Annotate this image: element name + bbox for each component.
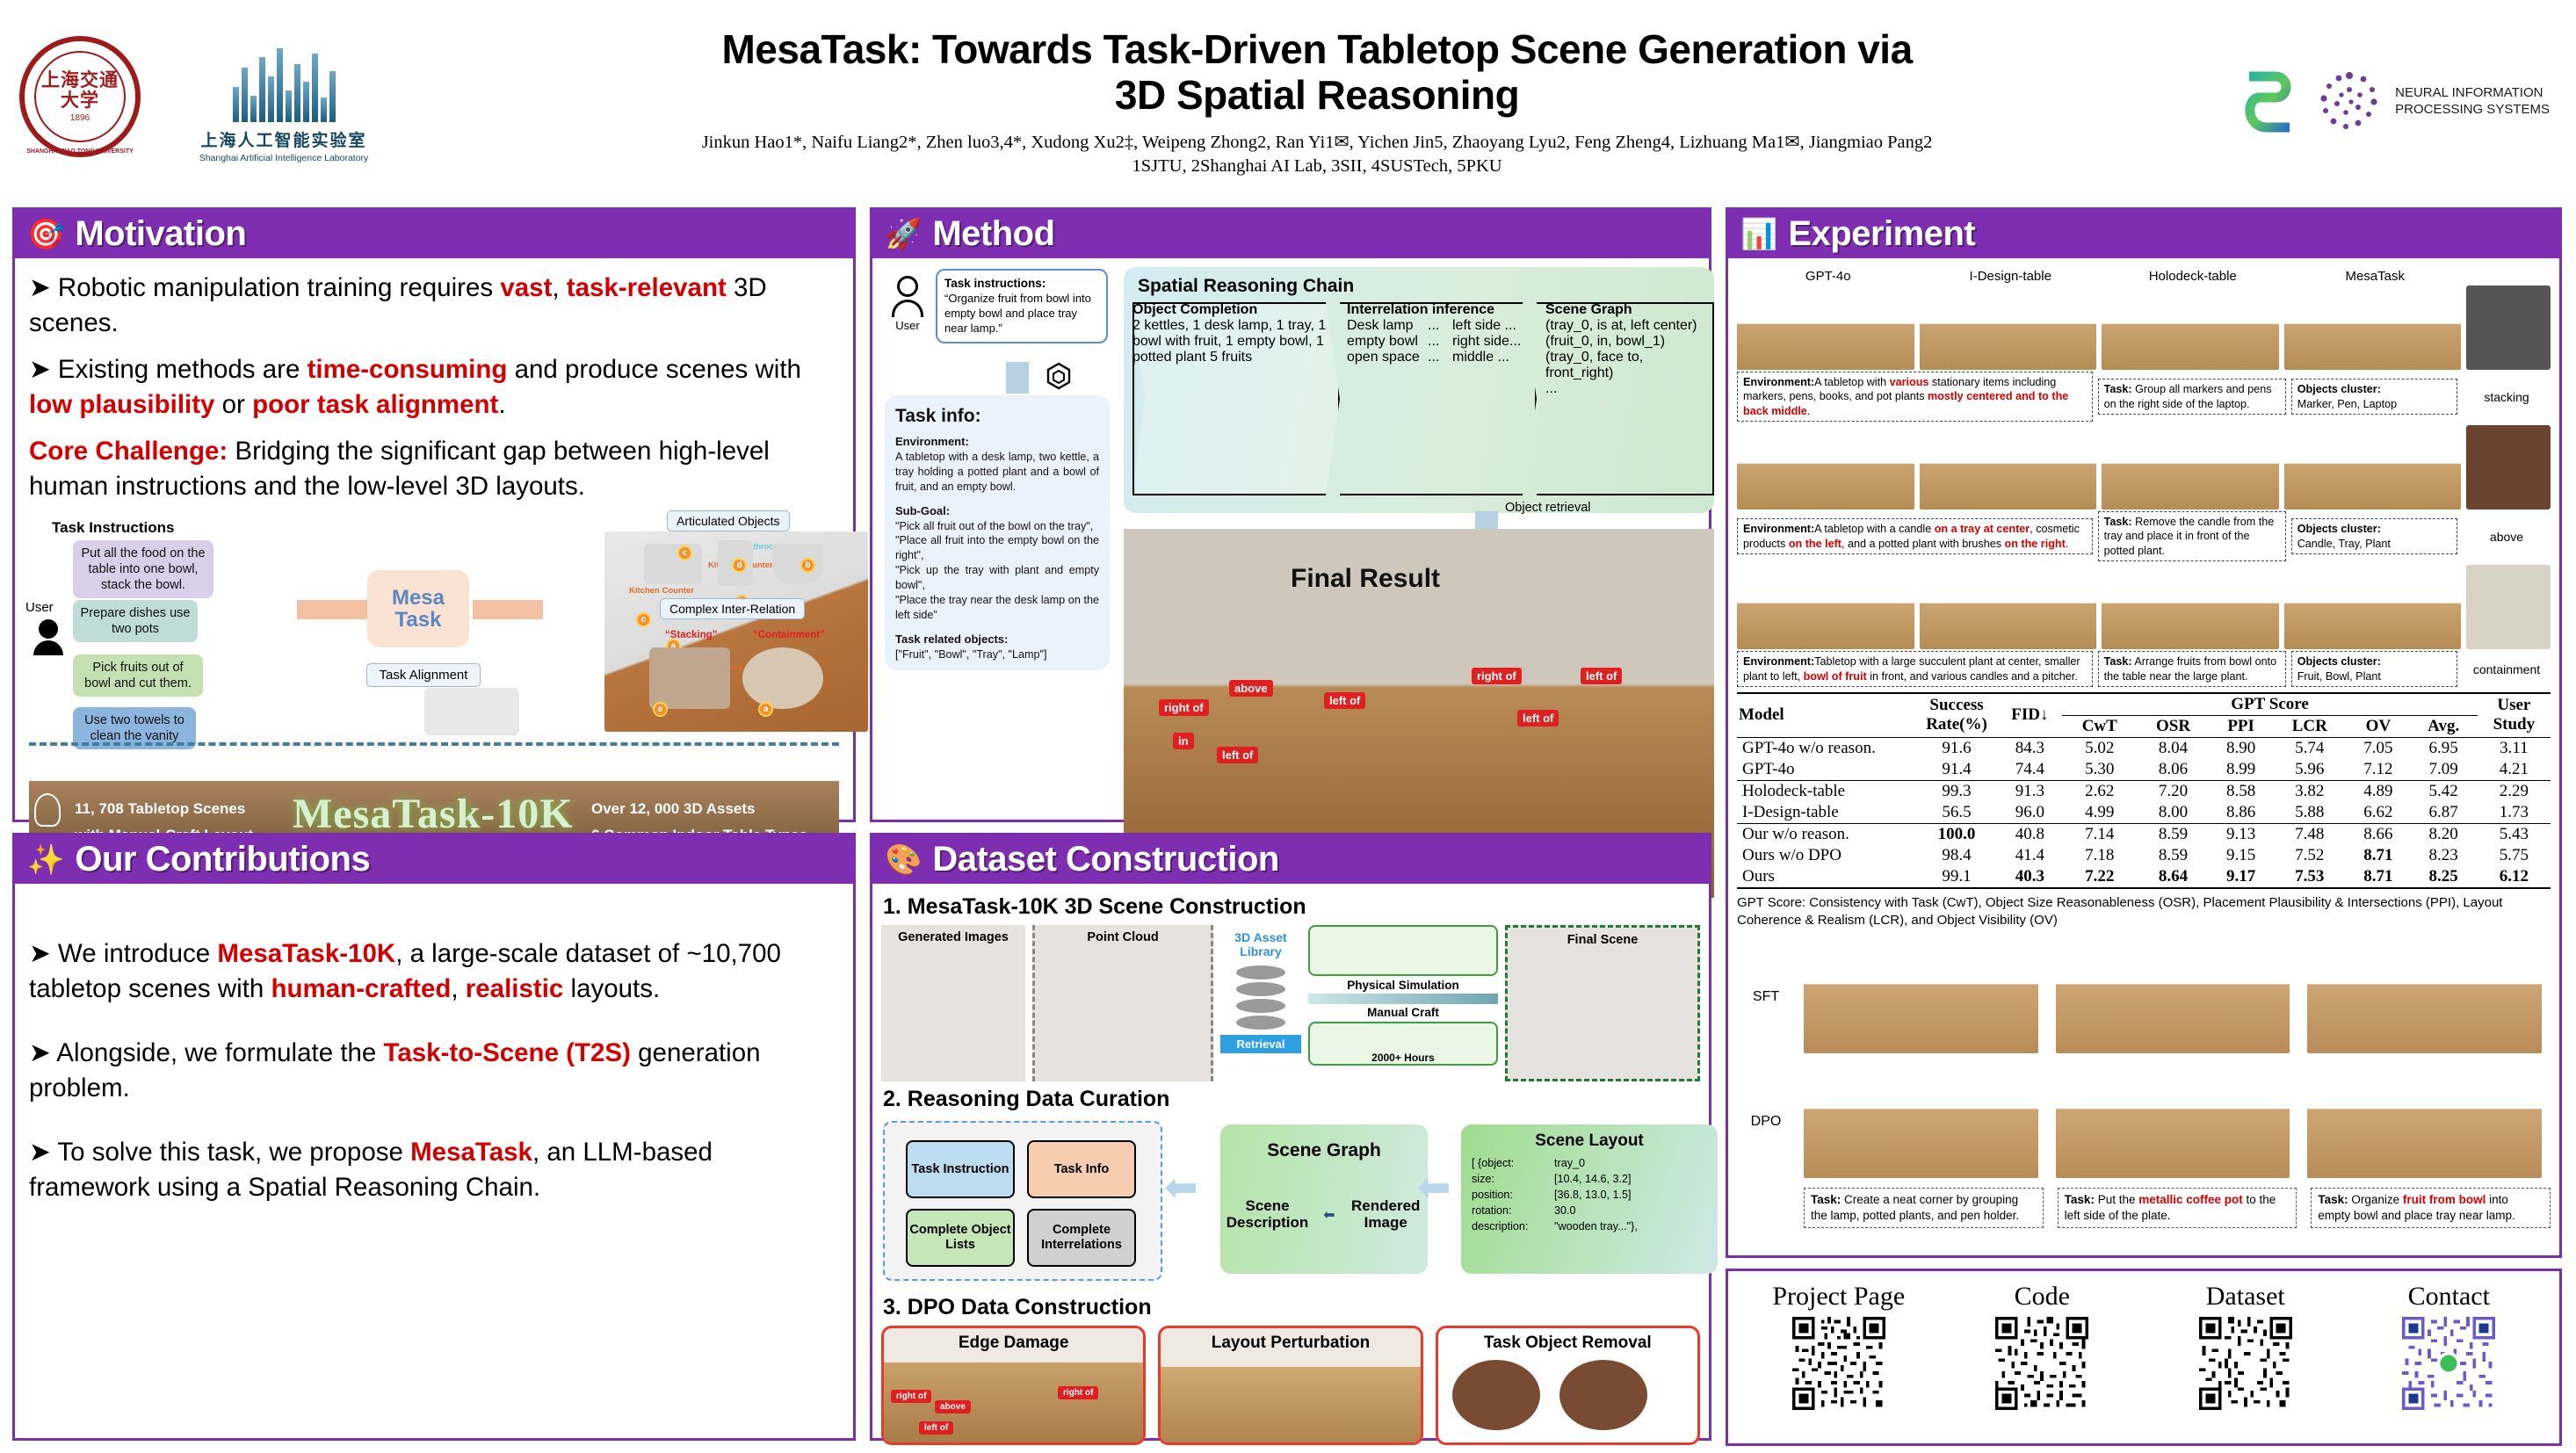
cluster-label-2: Objects cluster: — [2297, 523, 2381, 535]
bottom-task-1: Task: Create a neat corner by grouping t… — [1804, 1188, 2044, 1228]
cell-sr: 100.0 — [1916, 823, 1998, 845]
qr-code-contact-icon[interactable] — [2402, 1317, 2495, 1410]
reasoning-data-curation: Task Instruction Task Info Complete Obje… — [881, 1117, 1700, 1290]
dataset-sub-3: 3. DPO Data Construction — [883, 1295, 1700, 1320]
cell-user: 1.73 — [2478, 802, 2551, 824]
model-name-row: GPT-4o I-Design-table Holodeck-table Mes… — [1737, 269, 2551, 284]
cell-cwt: 5.02 — [2062, 737, 2137, 759]
palette-icon: 🎨 — [885, 845, 922, 875]
point-cloud-card: Point Cloud — [1032, 925, 1213, 1081]
relation-label-2: above — [2463, 530, 2551, 544]
cell-sr: 91.4 — [1916, 759, 1998, 781]
cell-osr: 8.59 — [2137, 823, 2210, 845]
poster-title-line1: MesaTask: Towards Task-Driven Tabletop S… — [402, 27, 2232, 73]
bt3-p1: fruit from bowl — [2403, 1193, 2486, 1206]
arrow-instructions-to-info — [1006, 362, 1029, 394]
env-2-p4: , and a potted plant with brushes — [1842, 538, 2005, 550]
relation-right-of-2: left of — [1581, 668, 1622, 684]
scene-idesign-1 — [1920, 286, 2097, 370]
cluster-label-3: Objects cluster: — [2297, 655, 2381, 668]
scene-graph-node: Scene Graph Scene Description ⬅ Rendered… — [1220, 1124, 1428, 1274]
cell-avg: 6.87 — [2410, 802, 2478, 824]
environment-box-1: Environment:A tabletop with various stat… — [1737, 372, 2093, 422]
cb3-r1: MesaTask — [410, 1138, 532, 1167]
mb2-r3: poor task alignment — [252, 390, 498, 419]
author-list: Jinkun Hao1*, Naifu Liang2*, Zhen luo3,4… — [402, 131, 2232, 153]
table-row: Ours 99.1 40.3 7.22 8.64 9.17 7.53 8.71 … — [1737, 866, 2551, 888]
method-body: User Task instructions: “Organize fruit … — [872, 258, 1709, 817]
sft-scene-1 — [1804, 941, 2038, 1053]
cb2-r1: Task-to-Scene (T2S) — [384, 1038, 631, 1067]
cell-osr: 8.00 — [2137, 802, 2210, 824]
scene-layout-label: Scene Layout — [1472, 1131, 1707, 1151]
env-2-p1: on a tray at center — [1935, 523, 2030, 535]
dataset-body: 1. MesaTask-10K 3D Scene Construction Ge… — [872, 884, 1709, 1450]
poster-title: MesaTask: Towards Task-Driven Tabletop S… — [402, 27, 2232, 118]
openai-logo-icon — [1041, 360, 1076, 400]
panel-motivation: 🎯 Motivation ➤ Robotic manipulation trai… — [12, 207, 856, 822]
relation-above: above — [1229, 680, 1273, 697]
lr2v: [10.4, 14.6, 3.2] — [1554, 1172, 1632, 1188]
sft-dpo-comparison: SFT DPO Task: Create a neat corner by gr… — [1737, 935, 2551, 1228]
scene-idesign-2 — [1920, 425, 2097, 510]
env-2-p3: on the left — [1789, 538, 1842, 550]
sparkles-icon: ✨ — [27, 845, 64, 875]
model-name-holodeck: Holodeck-table — [2102, 269, 2284, 284]
cb1-c: , — [451, 974, 465, 1003]
cell-avg: 8.20 — [2410, 823, 2478, 845]
th-success-l1: Success — [1918, 696, 1996, 715]
th-ppi: PPI — [2210, 715, 2273, 737]
table-row: I-Design-table 56.5 96.0 4.99 8.00 8.86 … — [1737, 802, 2551, 824]
edge-tag-2: above — [935, 1400, 971, 1413]
cell-osr: 8.06 — [2137, 759, 2210, 781]
layout-row-4: rotation:30.0 — [1472, 1204, 1707, 1219]
cluster-box-3: Objects cluster: Fruit, Bowl, Plant — [2291, 651, 2457, 687]
arrow-curation-left: ⬅ — [1164, 1163, 1198, 1211]
affiliation-list: 1SJTU, 2Shanghai AI Lab, 3SII, 4SUSTech,… — [402, 156, 2232, 177]
qr-contact[interactable]: Contact — [2348, 1282, 2551, 1410]
task-box-1: Task: Group all markers and pens on the … — [2098, 379, 2286, 415]
subgoal-item-1: "Pick all fruit out of the bowl on the t… — [895, 519, 1099, 534]
scene-row-3 — [1737, 565, 2551, 649]
complete-interrelations-node: Complete Interrelations — [1027, 1209, 1136, 1267]
arrow-curation-mid: ⬅ — [1417, 1163, 1451, 1211]
chain-title: Spatial Reasoning Chain — [1138, 276, 1705, 297]
sg-row-4: ... — [1545, 381, 1712, 397]
environment-text: A tabletop with a desk lamp, two kettle,… — [895, 450, 1099, 495]
dpo-label: DPO — [1737, 1114, 1795, 1130]
right-logos: NEURAL INFORMATION PROCESSING SYSTEMS — [2240, 65, 2550, 139]
method-figure: User Task instructions: “Organize fruit … — [878, 265, 1704, 810]
cb2-a: ➤ Alongside, we formulate the — [29, 1038, 384, 1067]
dpo-scene-2 — [2056, 1066, 2290, 1178]
s2-r1c1: Desk lamp — [1347, 318, 1428, 334]
layout-row-1: [ {object:tray_0 — [1472, 1156, 1707, 1172]
stacking-label: “Stacking” — [665, 630, 717, 640]
cell-cwt: 7.22 — [2062, 866, 2137, 888]
sft-scene-2 — [2056, 941, 2290, 1053]
lr1v: tray_0 — [1554, 1156, 1585, 1172]
mb1-a: ➤ Robotic manipulation training requires — [29, 273, 500, 302]
stage2-content: Interrelation inference Desk lamp...left… — [1347, 302, 1535, 365]
complex-inter-relation-label: Complex Inter-Relation — [660, 598, 805, 619]
env-2-p5: on the right — [2005, 538, 2066, 550]
final-result-label: Final Result — [1291, 564, 1440, 594]
mb2-a: ➤ Existing methods are — [29, 355, 308, 384]
cell-ppi: 8.90 — [2210, 737, 2273, 759]
qr-title-code: Code — [1941, 1282, 2145, 1312]
table-row: Ours w/o DPO 98.4 41.4 7.18 8.59 9.15 7.… — [1737, 845, 2551, 866]
user-label: User — [25, 600, 54, 615]
motivation-bullet-3: Core Challenge: Bridging the significant… — [29, 434, 839, 503]
env-label-2: Environment: — [1743, 523, 1814, 535]
cell-fid: 74.4 — [1997, 759, 2062, 781]
manual-craft-label: Manual Craft — [1308, 1006, 1498, 1019]
environment-label: Environment: — [895, 435, 969, 448]
sjtu-logo-year: 1896 — [70, 113, 90, 123]
qr-dataset[interactable]: Dataset — [2144, 1282, 2348, 1410]
relation-left-of-3: right of — [1472, 668, 1522, 684]
motivation-title: Motivation — [75, 214, 246, 254]
cell-lcr: 3.82 — [2272, 780, 2347, 802]
relation-tag-a2: a — [758, 702, 773, 717]
hours-label: 2000+ Hours — [1310, 1052, 1496, 1064]
qr-project-page[interactable]: Project Page — [1737, 1282, 1941, 1410]
scene-description-label: Scene Description — [1220, 1198, 1314, 1231]
mb1-r2: task-relevant — [567, 273, 727, 302]
qr-code-repo-icon[interactable] — [1995, 1317, 2088, 1410]
motivation-header: 🎯 Motivation — [15, 210, 853, 258]
task-objects-text: ["Fruit", "Bowl", "Tray", "Lamp"] — [895, 647, 1099, 662]
cb1-r1: MesaTask-10K — [217, 939, 395, 968]
experiment-header: 📊 Experiment — [1728, 210, 2559, 258]
cell-cwt: 7.18 — [2062, 845, 2137, 866]
cell-model: Ours w/o DPO — [1737, 845, 1916, 866]
poster-columns: 🎯 Motivation ➤ Robotic manipulation trai… — [0, 207, 2576, 1449]
env-2-p0: A tabletop with a candle — [1814, 523, 1935, 535]
bt3-label: Task: — [2318, 1193, 2348, 1206]
qr-code-project-icon[interactable] — [1792, 1317, 1885, 1410]
cb1-r2: human-crafted — [271, 974, 452, 1003]
th-model: Model — [1737, 693, 1916, 738]
task-instructions-text: “Organize fruit from bowl into empty bow… — [944, 292, 1099, 336]
asset-library-line2: Library — [1220, 944, 1301, 958]
cell-avg: 7.09 — [2410, 759, 2478, 781]
task-instruction-node: Task Instruction — [906, 1140, 1015, 1198]
method-user-avatar-icon: User — [888, 276, 927, 332]
mb1-b: , — [552, 273, 566, 302]
contributions-title: Our Contributions — [75, 840, 370, 879]
dataset-sub-2: 2. Reasoning Data Curation — [883, 1087, 1700, 1112]
cell-sr: 99.3 — [1916, 780, 1998, 802]
table-row: Holodeck-table 99.3 91.3 2.62 7.20 8.58 … — [1737, 780, 2551, 802]
cluster-label-1: Objects cluster: — [2297, 383, 2381, 395]
articulated-objects-label: Articulated Objects — [667, 510, 790, 531]
simulation-craft-block: Physical Simulation Manual Craft 2000+ H… — [1308, 925, 1498, 1081]
gradient-logo-icon — [2240, 71, 2298, 133]
scene-holodeck-2 — [2102, 425, 2279, 510]
dpo-scene-3 — [2307, 1066, 2542, 1178]
task-box-3: Task: Arrange fruits from bowl onto the … — [2098, 651, 2286, 687]
lr3v: [36.8, 13.0, 1.5] — [1554, 1188, 1632, 1204]
cell-ppi: 8.99 — [2210, 759, 2273, 781]
results-table: Model Success Rate(%) FID↓ GPT Score Use… — [1737, 692, 2551, 889]
cluster-text-1: Marker, Pen, Laptop — [2297, 397, 2451, 411]
th-user-l2: Study — [2479, 715, 2549, 734]
qr-code-dataset-icon[interactable] — [2199, 1317, 2292, 1410]
bt3-p0: Organize — [2348, 1193, 2403, 1206]
environment-box-3: Environment:Tabletop with a large succul… — [1737, 651, 2093, 687]
edge-tag-3: left of — [919, 1421, 953, 1435]
panel-links: Project Page — [1726, 1269, 2562, 1446]
relation-left-of-4: left of — [1517, 710, 1559, 726]
experiment-title: Experiment — [1788, 214, 1975, 254]
desc-row-1: Environment:A tabletop with various stat… — [1737, 372, 2551, 422]
articulated-tag-b: b — [800, 558, 815, 573]
stage1-content: Object Completion 2 kettles, 1 desk lamp… — [1132, 302, 1331, 365]
relation-label-3: containment — [2463, 662, 2551, 676]
cell-sr: 91.6 — [1916, 737, 1998, 759]
s2-r2c3: right side... — [1452, 334, 1521, 350]
cell-avg: 5.42 — [2410, 780, 2478, 802]
motivation-figure: Task Instructions User Put all the food … — [29, 516, 839, 735]
zoom-crop-3 — [2466, 565, 2551, 649]
method-user-label: User — [888, 319, 927, 332]
mesatask-line1: Mesa — [392, 587, 445, 609]
mb3-r: Core Challenge: — [29, 437, 228, 466]
cell-osr: 8.59 — [2137, 845, 2210, 866]
dataset-sub-1: 1. MesaTask-10K 3D Scene Construction — [883, 894, 1700, 920]
cb1-d: layouts. — [563, 974, 660, 1003]
physical-simulation-label: Physical Simulation — [1308, 979, 1498, 992]
contributions-body: ➤ We introduce MesaTask-10K, a large-sca… — [15, 884, 853, 1225]
panel-method: 🚀 Method User Task instructions: “Organi… — [870, 207, 1711, 822]
scene-graph-label: Scene Graph — [1220, 1124, 1428, 1161]
cell-lcr: 5.96 — [2272, 759, 2347, 781]
banner-right-line1: Over 12, 000 3D Assets — [591, 800, 756, 818]
task-alignment-label: Task Alignment — [366, 663, 481, 687]
qr-title-project: Project Page — [1737, 1282, 1941, 1312]
method-header: 🚀 Method — [872, 210, 1709, 258]
th-ov: OV — [2347, 715, 2410, 737]
instruction-bubble-1: Put all the food on the table into one b… — [73, 540, 213, 598]
th-osr: OSR — [2137, 715, 2210, 737]
th-user-l1: User — [2479, 696, 2549, 715]
zoom-crop-2 — [2466, 425, 2551, 510]
mb2-r1: time-consuming — [308, 355, 508, 384]
contribution-bullet-3: ➤ To solve this task, we propose MesaTas… — [29, 1135, 839, 1204]
dataset-title: Dataset Construction — [932, 840, 1279, 879]
sg-row-3: (tray_0, face to, front_right) — [1545, 350, 1712, 381]
mb1-r1: vast — [500, 273, 552, 302]
mb2-c: or — [214, 390, 252, 419]
cell-user: 5.43 — [2478, 823, 2551, 845]
method-title: Method — [932, 214, 1054, 254]
task-object-removal-label: Task Object Removal — [1438, 1334, 1697, 1353]
column-left: 🎯 Motivation ➤ Robotic manipulation trai… — [12, 207, 856, 1449]
cell-model: Ours — [1737, 866, 1916, 888]
cell-fid: 96.0 — [1997, 802, 2062, 824]
final-scene-card: Final Scene — [1505, 925, 1700, 1081]
cell-ov: 7.12 — [2347, 759, 2410, 781]
qr-row: Project Page — [1728, 1271, 2559, 1420]
articulated-tag-d: d — [732, 558, 747, 573]
cell-user: 2.29 — [2478, 780, 2551, 802]
environment-box-2: Environment:A tabletop with a candle on … — [1737, 518, 2093, 554]
generated-images-label: Generated Images — [881, 930, 1025, 944]
s2-r3c2: ... — [1428, 350, 1452, 365]
cell-ppi: 9.15 — [2210, 845, 2273, 866]
env-3-p2: in front, and various candles and a pitc… — [1867, 670, 2078, 683]
arrow-to-scene — [473, 600, 543, 619]
cell-lcr: 7.53 — [2272, 866, 2347, 888]
sjtu-logo-en: SHANGHAI JIAO TONG UNIVERSITY — [25, 148, 135, 155]
cell-lcr: 7.52 — [2272, 845, 2347, 866]
cell-ppi: 8.58 — [2210, 780, 2273, 802]
cell-ppi: 8.86 — [2210, 802, 2273, 824]
scene-layout-node: Scene Layout [ {object:tray_0 size:[10.4… — [1461, 1124, 1718, 1274]
qr-code[interactable]: Code — [1941, 1282, 2145, 1410]
lab-name-en: Shanghai Artificial Intelligence Laborat… — [174, 153, 394, 163]
dataset-header: 🎨 Dataset Construction — [872, 835, 1709, 884]
s2-r2c2: ... — [1428, 334, 1452, 350]
scene-gpt4o-3 — [1737, 565, 1914, 649]
mesatask-line2: Task — [392, 609, 445, 631]
s2-r3c1: open space — [1347, 350, 1428, 365]
sg-row-1: (tray_0, is at, left center) — [1545, 318, 1712, 334]
edge-damage-card: Edge Damage right of above left of right… — [881, 1326, 1146, 1445]
scene-mesatask-3 — [2284, 565, 2462, 649]
th-fid: FID↓ — [1997, 693, 2062, 738]
cell-cwt: 2.62 — [2062, 780, 2137, 802]
task-instructions-label: Task Instructions — [52, 519, 175, 537]
lr5k: description: — [1472, 1219, 1554, 1235]
dpo-scene-1 — [1804, 1066, 2038, 1178]
cell-model: GPT-4o — [1737, 759, 1916, 781]
layout-row-3: position:[36.8, 13.0, 1.5] — [1472, 1188, 1707, 1204]
env-2-p6: . — [2066, 538, 2069, 550]
relation-tag-e: e — [653, 702, 668, 717]
cell-fid: 84.3 — [1997, 737, 2062, 759]
task-info-box: Task info: Environment: A tabletop with … — [885, 395, 1110, 670]
lr5v: "wooden tray..."}, — [1554, 1219, 1638, 1235]
motivation-body: ➤ Robotic manipulation training requires… — [15, 258, 853, 904]
mesatask-node: Mesa Task — [367, 570, 469, 647]
mb2-r2: low plausibility — [29, 390, 214, 419]
s2-r1c2: ... — [1428, 318, 1452, 334]
scene-gpt4o-1 — [1737, 286, 1914, 370]
cell-ov: 4.89 — [2347, 780, 2410, 802]
complete-object-lists-node: Complete Object Lists — [906, 1209, 1015, 1267]
sjtu-logo: 上海交通大学 1896 SHANGHAI JIAO TONG UNIVERSIT… — [19, 36, 151, 168]
sg-row-2: (fruit_0, in, bowl_1) — [1545, 334, 1712, 350]
th-cwt: CwT — [2062, 715, 2137, 737]
cluster-text-3: Fruit, Bowl, Plant — [2297, 669, 2451, 683]
arrow-render-to-desc: ⬅ — [1323, 1206, 1335, 1224]
env-1-p4: . — [1807, 405, 1811, 417]
cell-cwt: 7.14 — [2062, 823, 2137, 845]
stage3-body: (tray_0, is at, left center) (fruit_0, i… — [1545, 318, 1712, 397]
spatial-reasoning-chain: Spatial Reasoning Chain Object Completio… — [1124, 267, 1714, 513]
th-gpt-score: GPT Score — [2062, 693, 2477, 716]
articulated-obj-1 — [644, 544, 702, 584]
th-lcr: LCR — [2272, 715, 2347, 737]
database-stack-icon — [1220, 965, 1301, 1030]
bottom-task-3: Task: Organize fruit from bowl into empt… — [2311, 1188, 2551, 1228]
rocket-icon: 🚀 — [885, 220, 922, 249]
cell-lcr: 7.48 — [2272, 823, 2347, 845]
chain-stages: Object Completion 2 kettles, 1 desk lamp… — [1132, 302, 1705, 495]
stage1-body: 2 kettles, 1 desk lamp, 1 tray, 1 bowl w… — [1132, 318, 1331, 365]
bottom-task-2: Task: Put the metallic coffee pot to the… — [2058, 1188, 2297, 1228]
object-retrieval-label: Object retrieval — [1505, 501, 1591, 515]
th-success-l2: Rate(%) — [1918, 715, 1996, 734]
s2-r2c1: empty bowl — [1347, 334, 1428, 350]
motivation-bullet-1: ➤ Robotic manipulation training requires… — [29, 271, 839, 340]
bt2-label: Task: — [2065, 1193, 2095, 1206]
scene-mesatask-1 — [2284, 286, 2462, 370]
subgoal-item-2: "Place all fruit into the empty bowl on … — [895, 533, 1099, 563]
neurips-swirl-icon — [2312, 65, 2386, 139]
task-instructions-title: Task instructions: — [944, 277, 1046, 290]
scene-construction-pipeline: Generated Images Point Cloud 3D Asset Li… — [881, 925, 1700, 1081]
cell-user: 6.12 — [2478, 866, 2551, 888]
cell-model: Our w/o reason. — [1737, 823, 1916, 845]
dpo-data-construction: Edge Damage right of above left of right… — [881, 1326, 1700, 1445]
layout-perturbation-label: Layout Perturbation — [1161, 1334, 1420, 1353]
env-1-p1: various — [1890, 376, 1929, 388]
point-cloud-label: Point Cloud — [1035, 930, 1211, 944]
task-info-node: Task Info — [1027, 1140, 1136, 1198]
cell-osr: 7.20 — [2137, 780, 2210, 802]
task-object-removal-card: Task Object Removal — [1436, 1326, 1700, 1445]
env-label-1: Environment: — [1743, 376, 1814, 388]
column-right: 📊 Experiment GPT-4o I-Design-table Holod… — [1726, 207, 2562, 1449]
task-box-2: Task: Remove the candle from the tray an… — [2098, 511, 2286, 561]
lr3k: position: — [1472, 1188, 1554, 1204]
cell-avg: 8.25 — [2410, 866, 2478, 888]
containment-label: “Containment” — [753, 630, 825, 640]
cell-lcr: 5.74 — [2272, 737, 2347, 759]
poster-title-line2: 3D Spatial Reasoning — [402, 73, 2232, 119]
cell-ppi: 9.17 — [2210, 866, 2273, 888]
cell-model: Holodeck-table — [1737, 780, 1916, 802]
task-objects-label: Task related objects: — [895, 633, 1008, 646]
panel-contributions: ✨ Our Contributions ➤ We introduce MesaT… — [12, 833, 856, 1441]
bt2-p1: metallic coffee pot — [2138, 1193, 2243, 1206]
generated-images-card: Generated Images — [881, 925, 1025, 1081]
s2-r1c3: left side ... — [1452, 318, 1516, 334]
relation-right-of-1: right of — [1159, 699, 1209, 716]
lab-mark-icon — [174, 41, 394, 122]
relation-left-of-2: left of — [1324, 692, 1365, 709]
qr-title-contact: Contact — [2348, 1282, 2551, 1312]
banner-left-line1: 11, 708 Tabletop Scenes — [75, 800, 245, 818]
edge-damage-label: Edge Damage — [884, 1334, 1143, 1353]
task-instructions-bubble: Task instructions: “Organize fruit from … — [936, 269, 1108, 343]
cell-user: 3.11 — [2478, 737, 2551, 759]
stage2-title: Interrelation inference — [1347, 302, 1535, 318]
gpt-score-note: GPT Score: Consistency with Task (CwT), … — [1737, 894, 2551, 930]
subgoal-item-3: "Pick up the tray with plant and empty b… — [895, 563, 1099, 593]
cell-cwt: 4.99 — [2062, 802, 2137, 824]
cell-ov: 7.05 — [2347, 737, 2410, 759]
cell-avg: 6.95 — [2410, 737, 2478, 759]
lightbulb-icon — [34, 793, 61, 827]
cell-osr: 8.04 — [2137, 737, 2210, 759]
cb3-a: ➤ To solve this task, we propose — [29, 1138, 410, 1167]
